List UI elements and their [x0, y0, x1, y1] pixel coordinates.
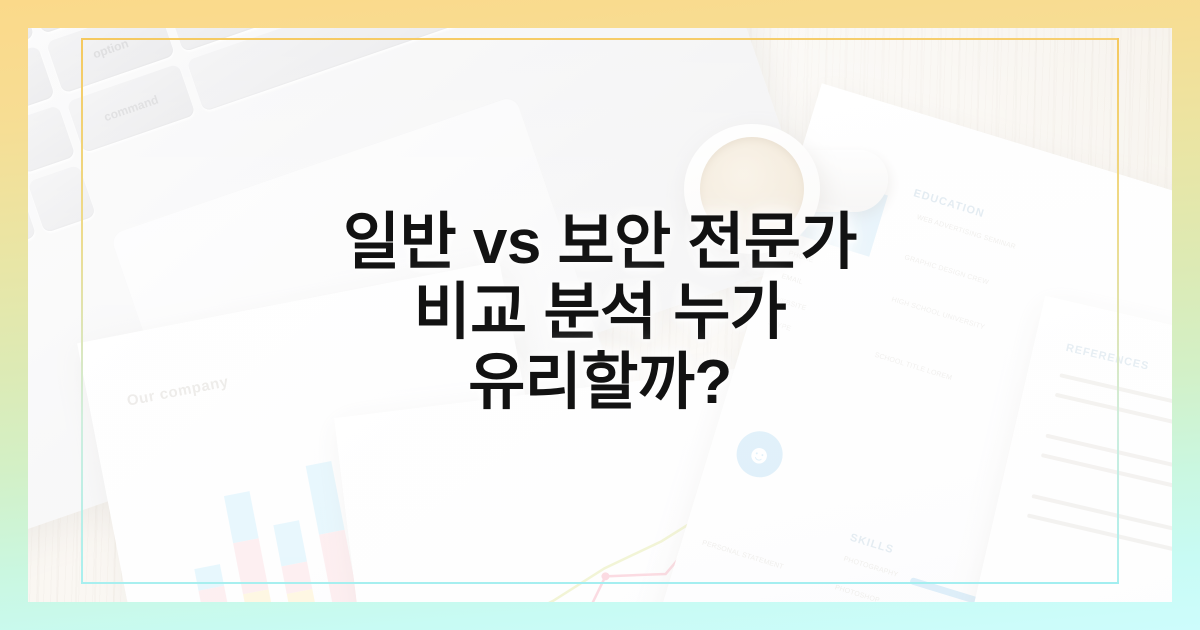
photo-white-overlay	[28, 28, 1172, 602]
background-photo: Q W E R T Y U I O P D F N A S G H J K L	[28, 28, 1172, 602]
title-card: Q W E R T Y U I O P D F N A S G H J K L	[0, 0, 1200, 630]
